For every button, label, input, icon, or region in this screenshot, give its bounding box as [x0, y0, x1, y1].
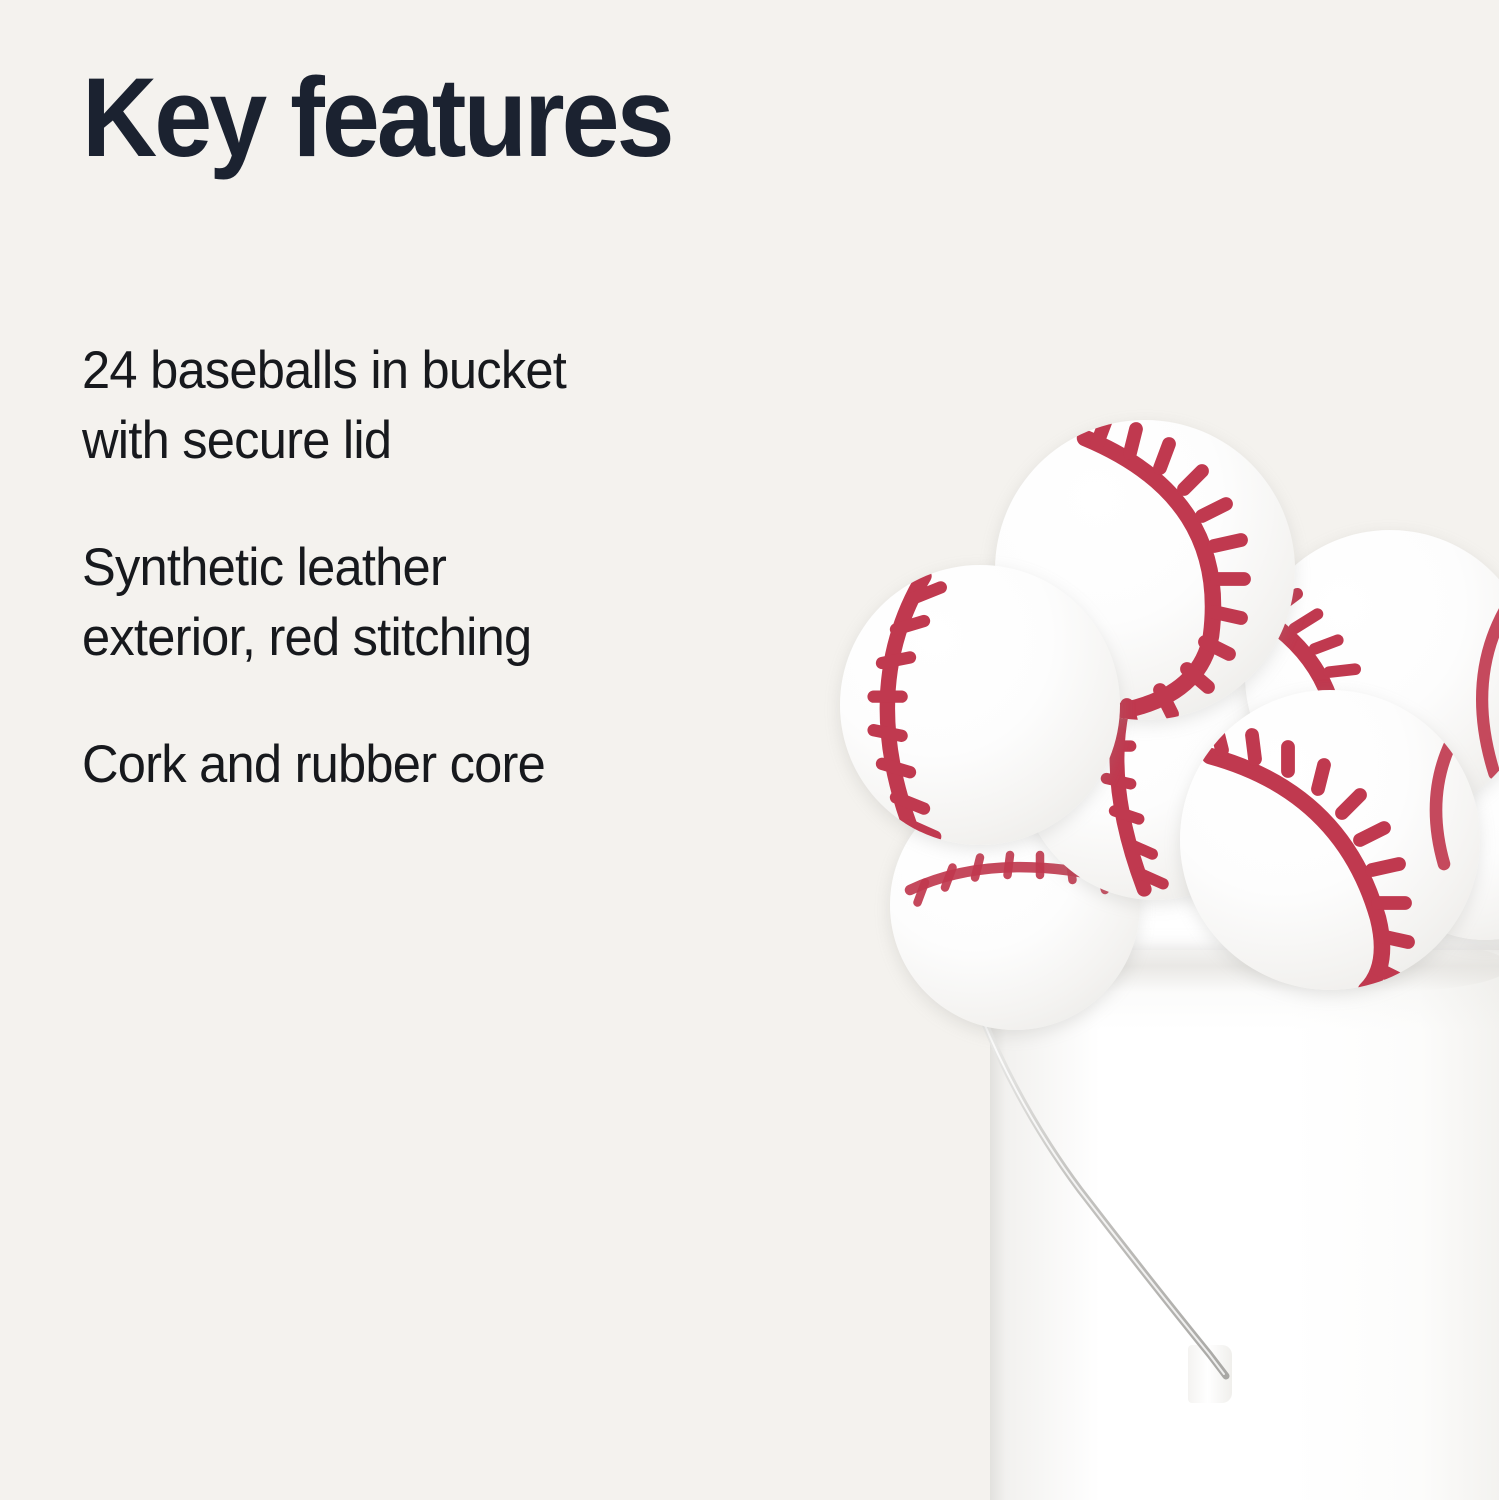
feature-line-1: 24 baseballs in bucket — [82, 341, 566, 400]
handle-bracket — [1188, 1345, 1232, 1403]
feature-line-1: Cork and rubber core — [82, 735, 545, 794]
feature-item-material-and-stitching: Synthetic leather exterior, red stitchin… — [82, 533, 712, 674]
feature-line-2: with secure lid — [82, 411, 391, 470]
feature-line-1: Synthetic leather — [82, 538, 446, 597]
text-column: Key features 24 baseballs in bucket with… — [82, 0, 782, 1500]
product-photo — [830, 380, 1499, 1500]
page-title: Key features — [82, 62, 672, 174]
baseball — [840, 565, 1120, 845]
feature-list: 24 baseballs in bucket with secure lid S… — [82, 336, 742, 800]
feature-line-2: exterior, red stitching — [82, 608, 531, 667]
feature-item-core-construction: Cork and rubber core — [82, 730, 712, 800]
feature-item-quantity-and-packaging: 24 baseballs in bucket with secure lid — [82, 336, 712, 477]
key-features-card: Key features 24 baseballs in bucket with… — [0, 0, 1499, 1500]
baseball — [1180, 690, 1480, 990]
